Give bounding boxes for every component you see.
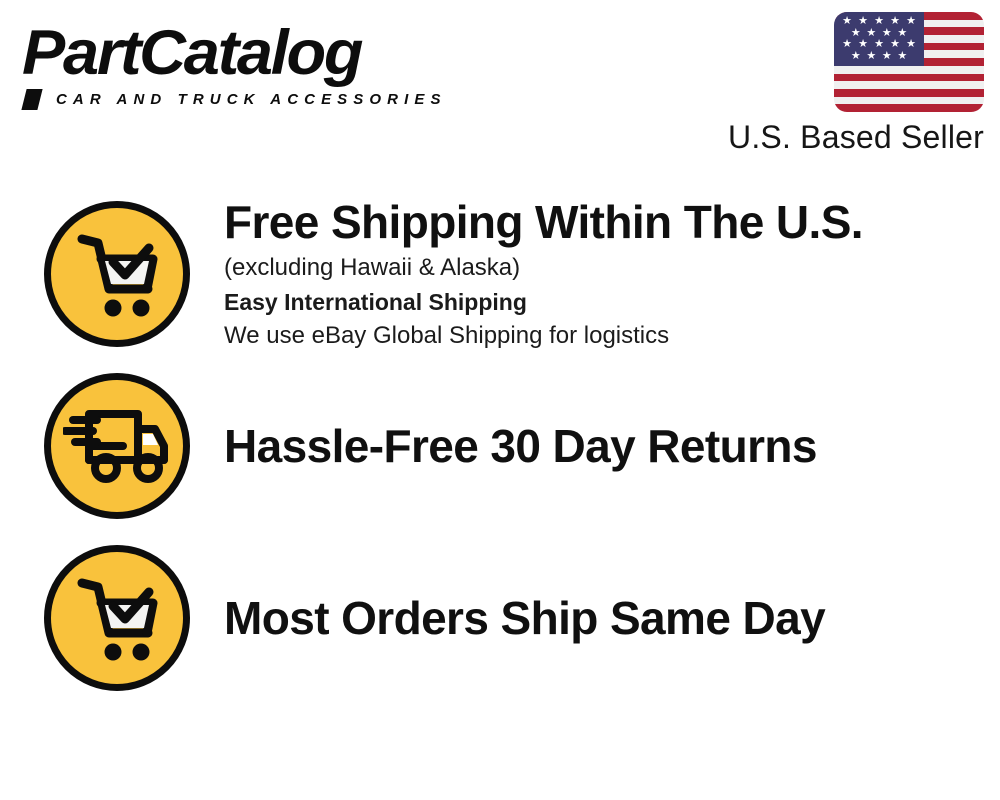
benefit-text-block: Free Shipping Within The U.S. (excluding… (224, 195, 964, 353)
logo-slash-mark (21, 89, 42, 110)
shopping-cart-check-icon (44, 545, 190, 691)
flag-canton: ★★★★★ ★★★★ ★★★★★ ★★★★ (834, 12, 924, 66)
brand-tagline-row: CAR AND TRUCK ACCESSORIES (22, 89, 492, 110)
delivery-truck-icon (44, 373, 190, 519)
us-flag-icon: ★★★★★ ★★★★ ★★★★★ ★★★★ (834, 12, 984, 112)
benefit-row: Most Orders Ship Same Day (0, 532, 1000, 704)
benefit-subtitle: (excluding Hawaii & Alaska) (224, 251, 964, 285)
benefit-text-block: Most Orders Ship Same Day (224, 591, 964, 645)
benefit-row: Hassle-Free 30 Day Returns (0, 360, 1000, 532)
benefit-subtitle: We use eBay Global Shipping for logistic… (224, 319, 964, 353)
brand-tagline: CAR AND TRUCK ACCESSORIES (56, 91, 447, 108)
us-based-seller-label: U.S. Based Seller (728, 118, 984, 156)
flag-star-row: ★★★★ (839, 28, 919, 39)
benefits-list: Free Shipping Within The U.S. (excluding… (0, 188, 1000, 704)
benefit-subtitle-bold: Easy International Shipping (224, 285, 964, 319)
flag-star-row: ★★★★★ (839, 16, 919, 27)
benefit-text-block: Hassle-Free 30 Day Returns (224, 419, 964, 473)
flag-star-row: ★★★★★ (839, 39, 919, 50)
brand-wordmark: PartCatalog (22, 18, 506, 88)
shopping-cart-check-icon (44, 201, 190, 347)
benefit-title: Free Shipping Within The U.S. (224, 195, 964, 249)
benefit-title: Most Orders Ship Same Day (224, 591, 964, 645)
flag-star-row: ★★★★ (839, 51, 919, 62)
brand-logo: PartCatalog CAR AND TRUCK ACCESSORIES (22, 18, 492, 118)
benefit-title: Hassle-Free 30 Day Returns (224, 419, 964, 473)
us-based-seller-badge: ★★★★★ ★★★★ ★★★★★ ★★★★ U.S. Based Seller (714, 12, 984, 156)
promotional-banner: PartCatalog CAR AND TRUCK ACCESSORIES ★★… (0, 0, 1000, 800)
benefit-row: Free Shipping Within The U.S. (excluding… (0, 188, 1000, 360)
